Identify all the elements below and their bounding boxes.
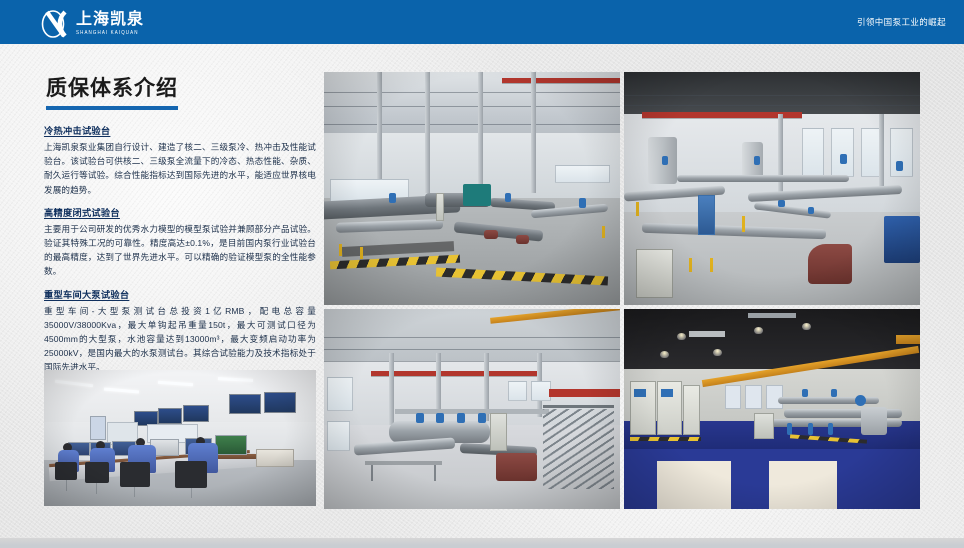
- header-bar: 上海凯泉 SHANGHAI KAIQUAN 引领中国泵工业的崛起: [0, 0, 964, 44]
- section-block: 冷热冲击试验台 上海凯泉泵业集团自行设计、建造了核二、三级泵冷、热冲击及性能试验…: [44, 124, 316, 197]
- title-underline-rule: [46, 106, 178, 110]
- header-slogan: 引领中国泵工业的崛起: [857, 0, 946, 44]
- photo-pump-test-rig-hall: [324, 72, 620, 305]
- section-body: 主要用于公司研发的优秀水力模型的模型泵试验并兼顾部分产品试验。验证其特殊工况的可…: [44, 222, 316, 279]
- photo-closed-loop-test-bench: [624, 72, 920, 305]
- photo-water-supply-test-room: [624, 309, 920, 509]
- section-body: 重型车间-大型泵测试台总投资1亿RMB，配电总容量35000V/38000Kva…: [44, 304, 316, 375]
- photo-control-room-operators: [44, 370, 316, 506]
- slide-bottom-edge: [0, 538, 964, 548]
- kaiquan-circle-x-logo-icon: [40, 9, 70, 38]
- section-heading: 冷热冲击试验台: [44, 124, 316, 138]
- photo-heavy-workshop-interior: [324, 309, 620, 509]
- brand-name-en: SHANGHAI KAIQUAN: [76, 28, 144, 36]
- section-heading: 高精度闭式试验台: [44, 206, 316, 220]
- page-title: 质保体系介绍: [46, 76, 316, 102]
- brand-name-cn: 上海凯泉: [76, 11, 144, 28]
- section-block: 高精度闭式试验台 主要用于公司研发的优秀水力模型的模型泵试验并兼顾部分产品试验。…: [44, 206, 316, 279]
- section-heading: 重型车间大泵试验台: [44, 288, 316, 302]
- brand-logo[interactable]: 上海凯泉 SHANGHAI KAIQUAN: [40, 8, 144, 38]
- slide-canvas: 上海凯泉 SHANGHAI KAIQUAN 引领中国泵工业的崛起 质保体系介绍 …: [0, 0, 964, 548]
- section-body: 上海凯泉泵业集团自行设计、建造了核二、三级泵冷、热冲击及性能试验台。该试验台可供…: [44, 140, 316, 197]
- section-block: 重型车间大泵试验台 重型车间-大型泵测试台总投资1亿RMB，配电总容量35000…: [44, 288, 316, 375]
